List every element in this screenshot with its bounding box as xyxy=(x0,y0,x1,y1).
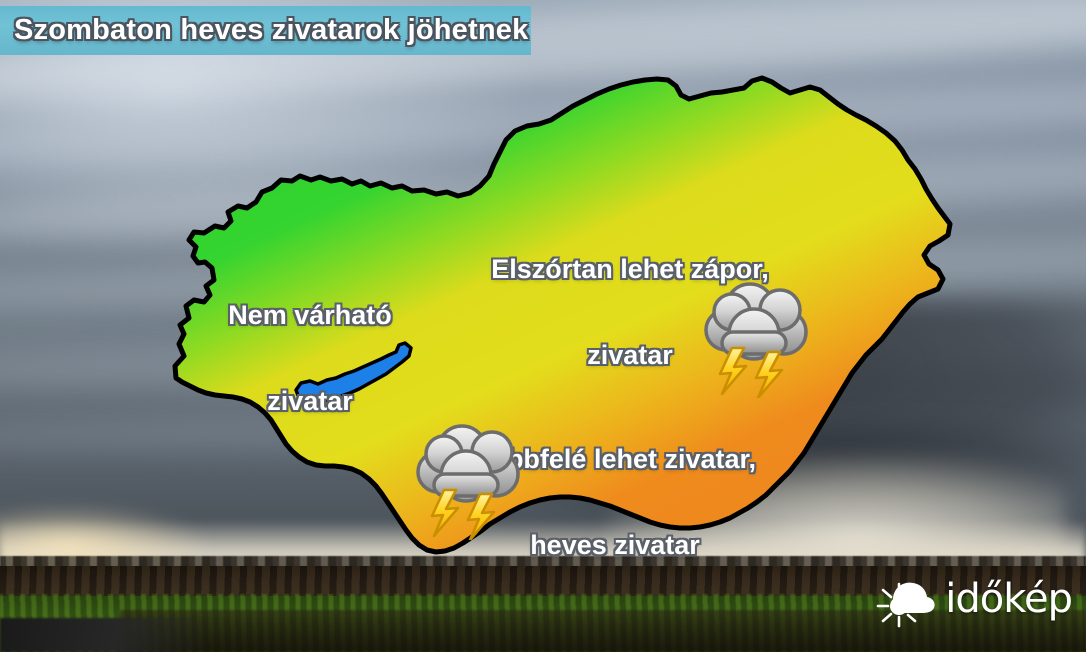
risk-gradient-fill xyxy=(150,60,970,560)
logo-text: időkép xyxy=(945,576,1072,622)
title-banner: Szombaton heves zivatarok jöhetnek xyxy=(0,6,531,55)
idokep-logo[interactable]: időkép xyxy=(875,570,1072,628)
thunderstorm-icon xyxy=(688,278,818,403)
weather-map-graphic: Nem várható zivatar Elszórtan lehet zápo… xyxy=(0,0,1086,652)
sun-behind-cloud-icon xyxy=(875,570,937,628)
thunderstorm-icon xyxy=(400,420,530,545)
hungary-map: Nem várható zivatar Elszórtan lehet zápo… xyxy=(0,0,1086,652)
map-svg xyxy=(0,0,1086,652)
page-title: Szombaton heves zivatarok jöhetnek xyxy=(14,14,528,47)
